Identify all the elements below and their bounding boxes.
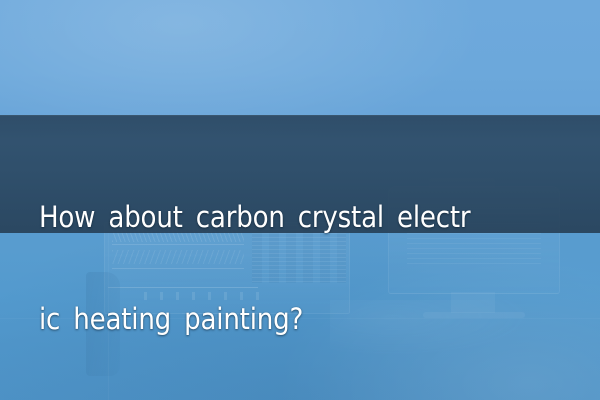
caption-line-1: How about carbon crystal electr <box>39 200 575 234</box>
caption-line-2: ic heating painting? <box>39 302 575 336</box>
caption-headline: How about carbon crystal electr ic heati… <box>39 132 575 400</box>
thumbnail-image: How about carbon crystal electr ic heati… <box>0 0 600 400</box>
